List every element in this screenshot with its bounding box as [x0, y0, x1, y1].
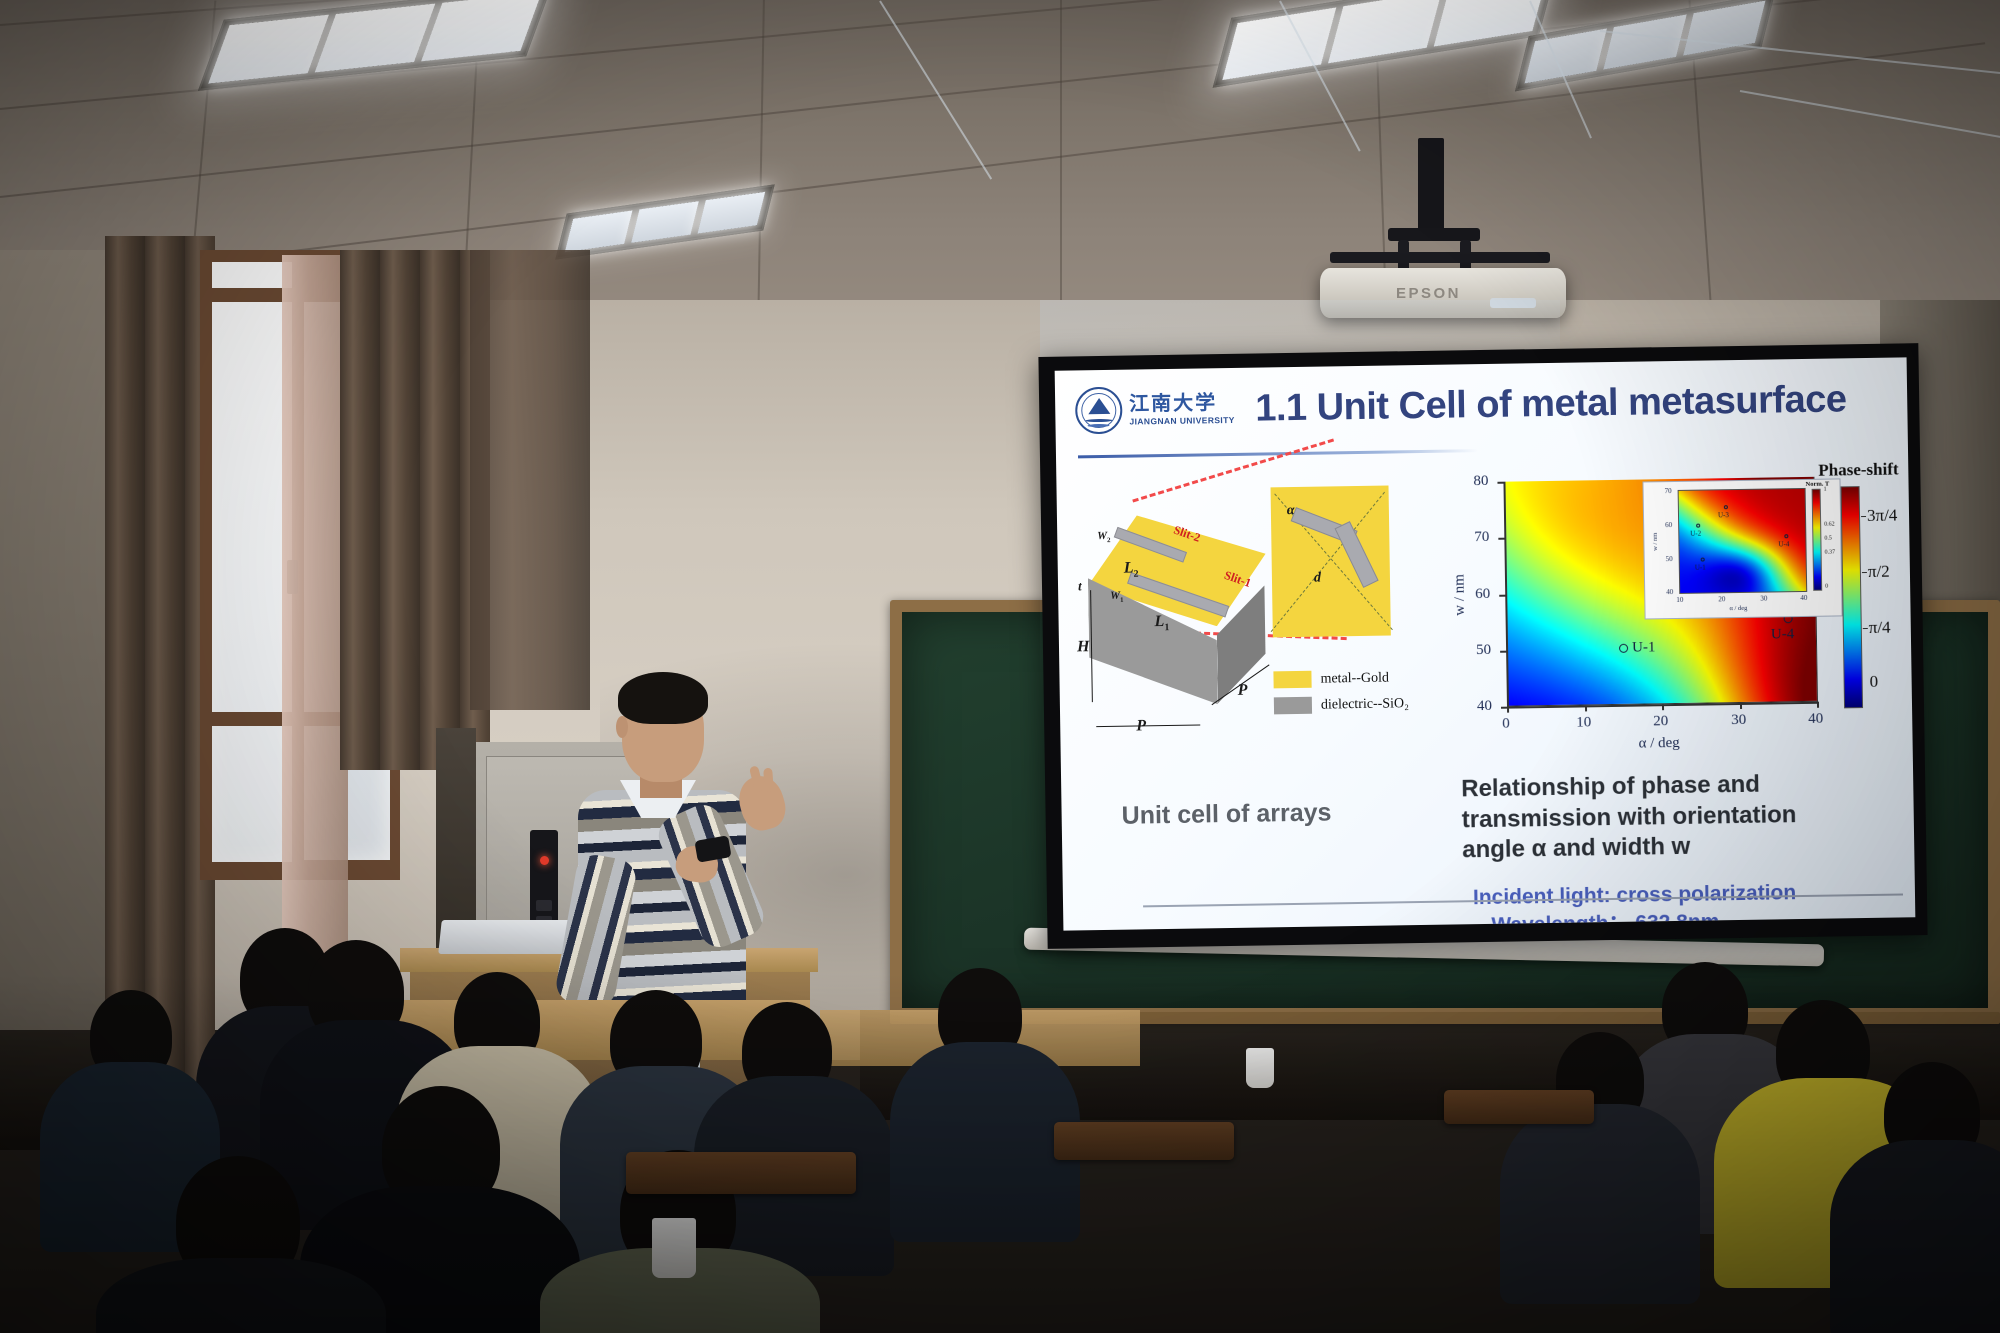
y-tick-80: 80 [1473, 473, 1488, 490]
ceiling-light [1213, 0, 1558, 88]
paper-cup[interactable] [652, 1218, 696, 1278]
heatmap-x-axis-label: α / deg [1638, 735, 1679, 753]
presenter-finger [763, 768, 774, 793]
caption-relationship: Relationship of phase and transmission w… [1461, 768, 1862, 866]
inset-x-tick-10: 10 [1676, 596, 1683, 604]
transmission-inset-chart: 70 60 50 40 10 20 30 40 α / deg w / nm U… [1642, 478, 1842, 619]
laptop[interactable] [438, 920, 574, 954]
curtain-right [340, 250, 490, 770]
caption-unit-cell: Unit cell of arrays [1121, 798, 1331, 830]
colorbar-tick-pi2: π/2 [1868, 562, 1890, 582]
audience-body [890, 1042, 1080, 1242]
p-dimension-line [1096, 724, 1200, 727]
audience-body [1500, 1104, 1700, 1304]
university-name-en: JIANGNAN UNIVERSITY [1129, 415, 1235, 427]
x-tick-20: 20 [1653, 713, 1668, 730]
curtain-far [470, 250, 590, 710]
cabinet-power-led-icon [540, 856, 549, 865]
chair-back [1444, 1090, 1594, 1124]
colorbar-tick-3pi4: 3π/4 [1867, 506, 1898, 526]
inset-cb-tick-05: 0.5 [1824, 536, 1832, 542]
inset-marker-u1-label: U-1 [1695, 564, 1706, 572]
legend-swatch-dielectric [1274, 697, 1312, 715]
phase-shift-heatmap: 0 10 20 30 40 40 50 60 70 80 α / deg w /… [1446, 457, 1911, 784]
inset-cb-tick-062: 0.62 [1824, 521, 1835, 527]
colorbar-title: Phase-shift [1818, 459, 1899, 480]
x-tick-40: 40 [1808, 711, 1823, 728]
presenter-hair [618, 672, 708, 724]
y-tick-40: 40 [1477, 698, 1492, 715]
x-tick-30: 30 [1731, 712, 1746, 729]
inset-x-axis-label: α / deg [1729, 605, 1747, 612]
inset-y-tick-40: 40 [1666, 588, 1673, 596]
note-incident-light: Incident light: cross polarization [1473, 881, 1797, 909]
paper-cup[interactable] [1246, 1048, 1274, 1088]
inset-cb-tick-0: 0 [1825, 584, 1828, 590]
legend-swatch-gold [1273, 671, 1311, 689]
inset-marker-u3-label: U-3 [1718, 511, 1729, 519]
w1-label: W1 [1110, 590, 1123, 604]
inset-marker-u1 [1701, 558, 1705, 562]
colorbar-tick-0: 0 [1869, 672, 1878, 692]
audience-body [1830, 1140, 2000, 1333]
presenter-ear [616, 716, 628, 738]
projector-arm [1330, 252, 1550, 263]
chair-back [626, 1152, 856, 1194]
inset-y-axis-label: w / nm [1652, 533, 1659, 551]
t-label: t [1078, 578, 1082, 594]
jiangnan-seal-icon [1075, 387, 1123, 435]
ceiling-light [198, 0, 552, 91]
legend-metal: metal--Gold [1273, 670, 1389, 689]
l1-label: L1 [1154, 613, 1169, 633]
inset-cb-tick-037: 0.37 [1825, 549, 1836, 555]
colorbar-tick-pi4: π/4 [1869, 618, 1891, 638]
marker-u4-label: U-4 [1771, 626, 1795, 643]
lecture-hall-photo: EPSON 江南大学 JIANGNAN UNIVERSITY 1.1 Unit … [0, 0, 2000, 1333]
university-logo: 江南大学 JIANGNAN UNIVERSITY [1075, 385, 1235, 434]
legend-label-dielectric: dielectric--SiO₂ [1321, 696, 1409, 713]
inset-marker-u4 [1784, 534, 1788, 538]
inset-x-tick-20: 20 [1718, 595, 1725, 603]
projector-pole [1418, 138, 1444, 238]
inset-colorbar [1812, 489, 1823, 591]
inset-y-tick-70: 70 [1665, 487, 1672, 495]
h-label: H [1077, 638, 1090, 656]
ceiling-light [555, 184, 774, 259]
inset-marker-u2-label: U-2 [1690, 530, 1701, 538]
inset-y-tick-50: 50 [1666, 555, 1673, 563]
phase-shift-colorbar [1841, 486, 1863, 708]
y-tick-70: 70 [1474, 529, 1489, 546]
x-tick-10: 10 [1576, 714, 1591, 731]
marker-u1 [1619, 644, 1628, 653]
window-glass [212, 262, 292, 862]
d-label: d [1314, 571, 1321, 587]
inset-marker-u3 [1724, 505, 1728, 509]
inset-x-tick-40: 40 [1800, 594, 1807, 602]
legend-dielectric: dielectric--SiO₂ [1274, 695, 1409, 714]
projector-lens [1490, 298, 1536, 308]
projector-brand-label: EPSON [1396, 285, 1461, 302]
university-name-cn: 江南大学 [1129, 392, 1235, 414]
chair-back [1054, 1122, 1234, 1160]
inset-marker-u2 [1696, 524, 1700, 528]
projected-slide: 江南大学 JIANGNAN UNIVERSITY 1.1 Unit Cell o… [1055, 357, 1916, 930]
l2-label: L2 [1124, 559, 1139, 579]
heatmap-y-axis-label: w / nm [1451, 574, 1469, 616]
cabinet-keypad-button[interactable] [536, 900, 552, 911]
slide-title: 1.1 Unit Cell of metal metasurface [1255, 378, 1847, 430]
legend-label-gold: metal--Gold [1320, 670, 1389, 687]
y-tick-50: 50 [1476, 642, 1491, 659]
inset-marker-u4-label: U-4 [1778, 540, 1789, 548]
unit-cell-diagram: Slit-2 Slit-1 W2 W1 L2 L1 t H P P α d [1074, 473, 1439, 779]
y-tick-60: 60 [1475, 586, 1490, 603]
inset-y-tick-60: 60 [1665, 521, 1672, 529]
alpha-label: α [1287, 503, 1295, 519]
w2-label: W2 [1097, 530, 1110, 544]
inset-x-tick-30: 30 [1760, 595, 1767, 603]
x-tick-0: 0 [1502, 716, 1510, 733]
marker-u1-label: U-1 [1632, 639, 1656, 656]
inset-cb-tick-1: 1 [1824, 487, 1827, 493]
